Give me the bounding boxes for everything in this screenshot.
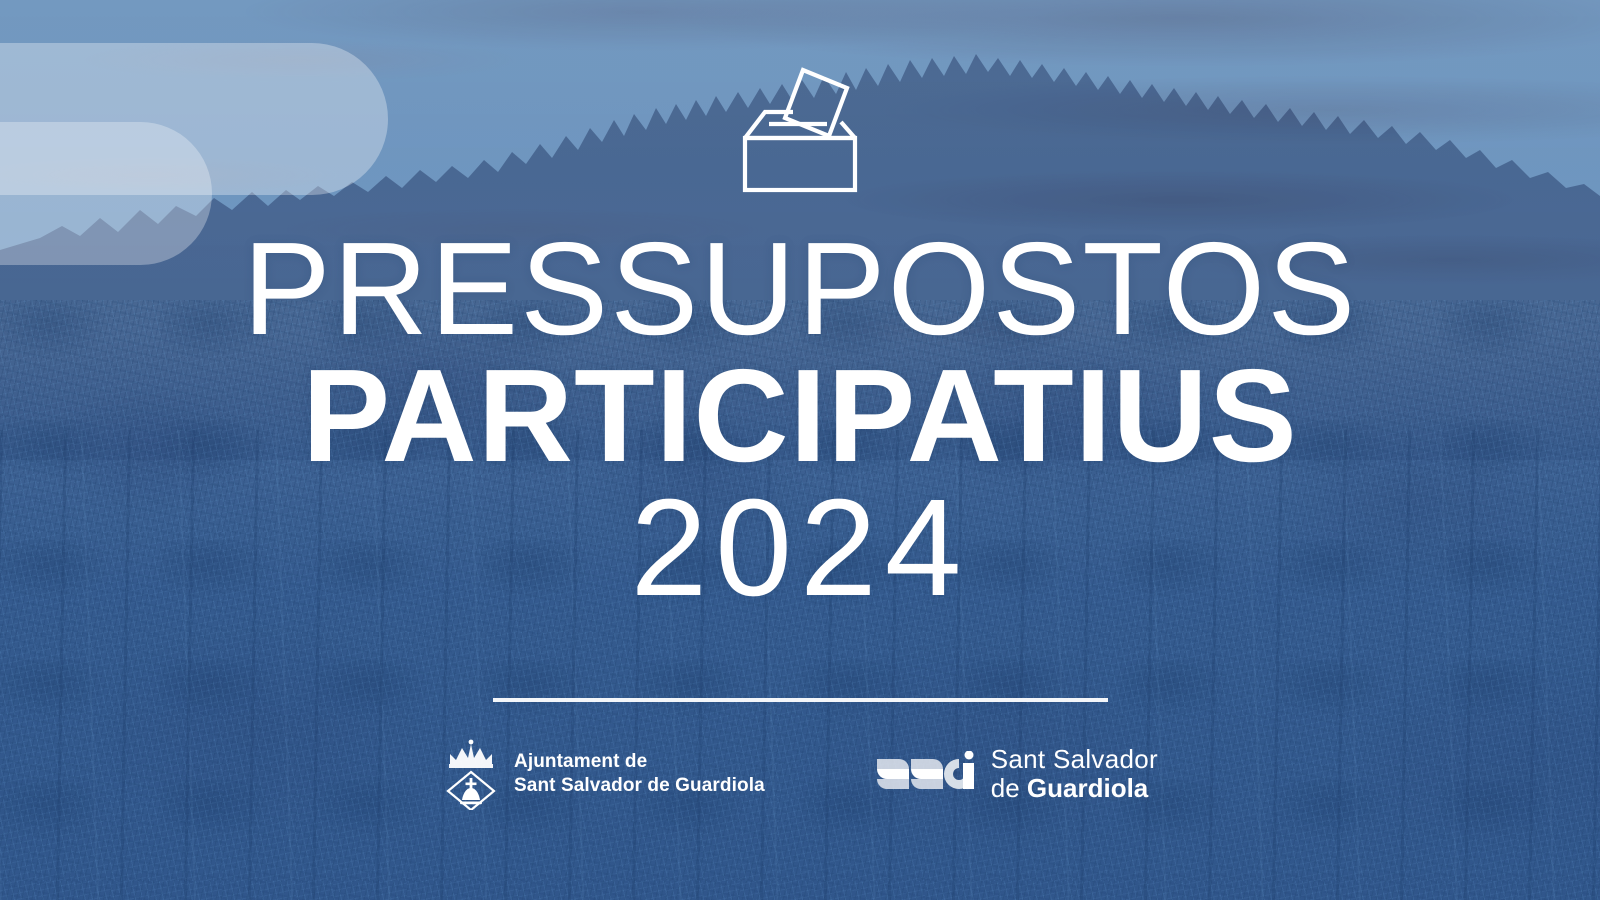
logo-ajuntament-line-2: Sant Salvador de Guardiola: [514, 774, 765, 798]
logo-ajuntament-line-1: Ajuntament de: [514, 750, 765, 774]
poster-title: PRESSUPOSTOS PARTICIPATIUS 2024: [243, 226, 1358, 614]
poster-content: PRESSUPOSTOS PARTICIPATIUS 2024: [0, 0, 1600, 900]
title-line-1: PRESSUPOSTOS: [243, 226, 1358, 351]
logo-ssg-text: Sant Salvador de Guardiola: [991, 745, 1158, 803]
divider-rule: [493, 698, 1108, 702]
logo-ssg: Sant Salvador de Guardiola: [875, 745, 1158, 803]
title-line-2: PARTICIPATIUS: [243, 353, 1358, 478]
logo-ssg-line-2-light: de: [991, 773, 1027, 803]
crown-and-diamond-crest-icon: [442, 738, 500, 810]
ssg-monogram-icon: [875, 751, 975, 797]
logo-ssg-line-2: de Guardiola: [991, 774, 1158, 803]
logo-ajuntament-text: Ajuntament de Sant Salvador de Guardiola: [514, 750, 765, 799]
ballot-box-icon: [741, 62, 859, 194]
logo-ssg-line-1: Sant Salvador: [991, 745, 1158, 774]
title-year: 2024: [243, 483, 1358, 614]
logo-ajuntament: Ajuntament de Sant Salvador de Guardiola: [442, 738, 765, 810]
poster-canvas: PRESSUPOSTOS PARTICIPATIUS 2024: [0, 0, 1600, 900]
logo-row: Ajuntament de Sant Salvador de Guardiola: [442, 738, 1158, 810]
logo-ssg-line-2-bold: Guardiola: [1027, 773, 1148, 803]
